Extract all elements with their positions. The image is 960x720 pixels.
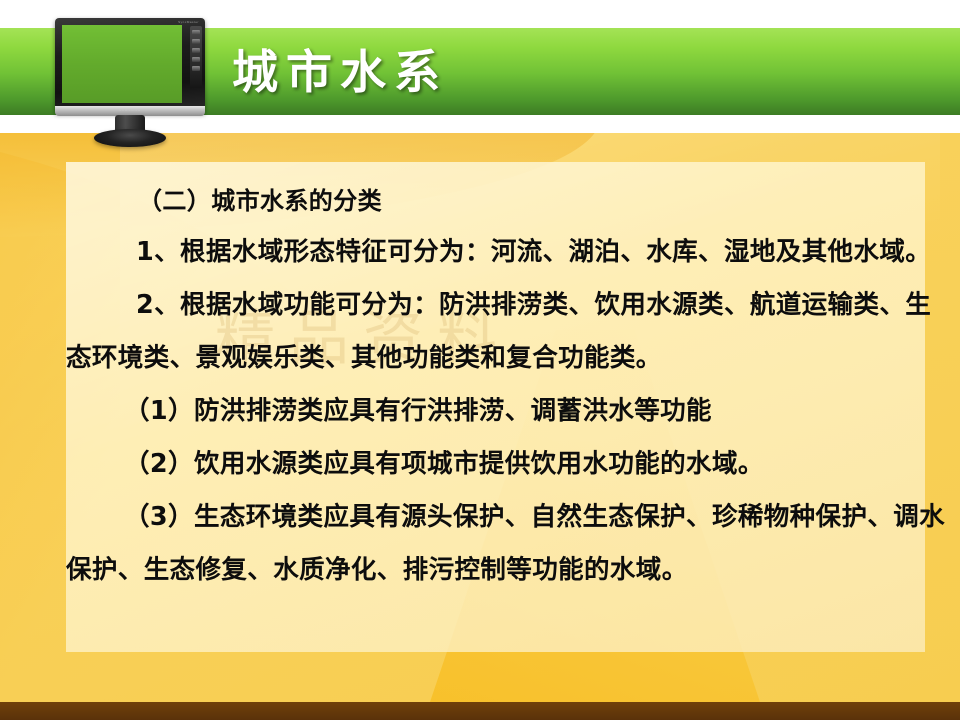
monitor-button-icon xyxy=(192,66,200,71)
monitor-model-label: SyncMaster xyxy=(178,20,199,24)
section-heading: （二）城市水系的分类 xyxy=(66,176,946,226)
monitor-illustration: SyncMaster SAMSUNG xyxy=(55,18,205,144)
monitor-stand-base xyxy=(94,129,166,147)
body-list-item-1: （1）防洪排涝类应具有行洪排涝、调蓄洪水等功能 xyxy=(66,385,946,438)
monitor-screen xyxy=(62,25,182,103)
monitor-button-icon xyxy=(192,57,200,62)
slide-canvas: SyncMaster SAMSUNG 城市水系 精品资料 （二）城市水系的分类 … xyxy=(0,0,960,720)
body-paragraph-1: 1、根据水域形态特征可分为：河流、湖泊、水库、湿地及其他水域。 xyxy=(66,226,946,279)
slide-title: 城市水系 xyxy=(232,36,448,108)
monitor-button-icon xyxy=(192,39,200,44)
monitor-brand-label: SAMSUNG xyxy=(55,108,205,112)
monitor-button-icon xyxy=(192,48,200,53)
monitor-button-icon xyxy=(192,30,200,35)
body-paragraph-2: 2、根据水域功能可分为：防洪排涝类、饮用水源类、航道运输类、生态环境类、景观娱乐… xyxy=(66,279,946,385)
body-list-item-3: （3）生态环境类应具有源头保护、自然生态保护、珍稀物种保护、调水保护、生态修复、… xyxy=(66,491,946,597)
monitor-bezel: SyncMaster xyxy=(55,18,205,113)
body-list-item-2: （2）饮用水源类应具有项城市提供饮用水功能的水域。 xyxy=(66,438,946,491)
footer-bar xyxy=(0,702,960,720)
slide-body-text: （二）城市水系的分类 1、根据水域形态特征可分为：河流、湖泊、水库、湿地及其他水… xyxy=(66,176,946,597)
